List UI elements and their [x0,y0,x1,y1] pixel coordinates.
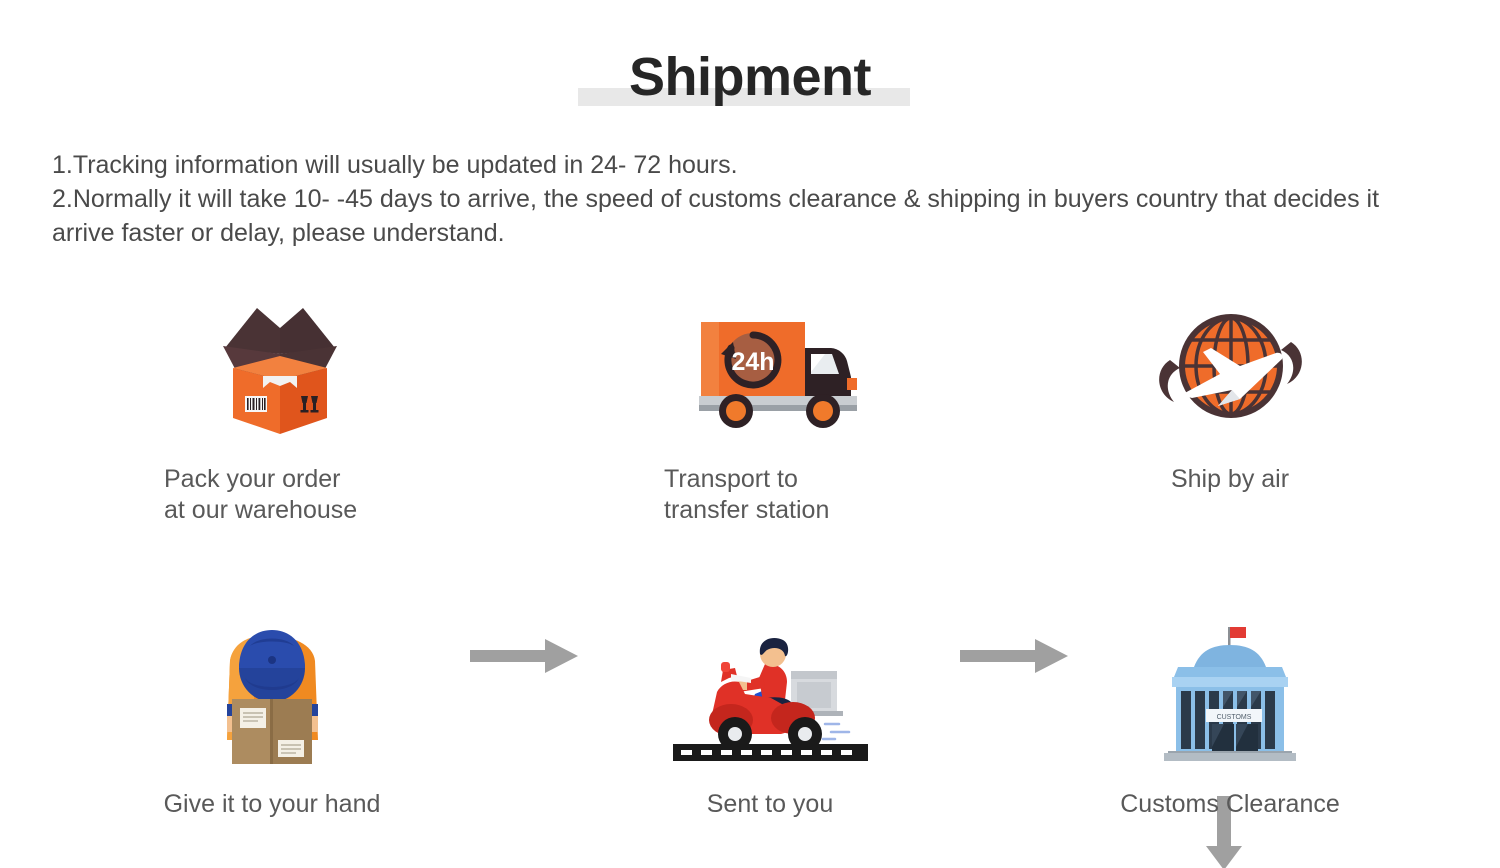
arrow-transport-to-air-icon [960,633,1070,679]
step-pack-your-order: Pack your order at our warehouse [130,288,430,526]
step-pack-caption-line2: at our warehouse [164,495,430,526]
step-transport-caption-line2: transfer station [664,495,930,526]
step-hand-caption: Give it to your hand [122,789,422,820]
step-air-caption: Ship by air [1080,464,1380,495]
customs-sign-text: CUSTOMS [1217,714,1252,721]
step-hand-caption-line1: Give it to your hand [122,789,422,820]
delivery-truck-icon: 24h [630,288,930,448]
step-transport-to-station: 24h [630,288,930,526]
shipment-infographic: Shipment 1.Tracking information will usu… [0,0,1500,868]
step-sent-caption: Sent to you [620,789,920,820]
step-customs-caption-line1: Customs Clearance [1080,789,1380,820]
open-box-icon [130,288,430,448]
step-transport-caption-line1: Transport to [664,464,930,495]
delivery-person-icon [122,613,422,773]
step-air-caption-line1: Ship by air [1080,464,1380,495]
globe-airplane-icon [1080,288,1380,448]
customs-building-icon: CUSTOMS [1080,613,1380,773]
delivery-scooter-icon [620,613,920,773]
step-customs-caption: Customs Clearance [1080,789,1380,820]
shipping-policy-text: 1.Tracking information will usually be u… [52,148,1442,250]
page-title-text: Shipment [629,48,871,107]
step-give-to-hand: Give it to your hand [122,613,422,820]
step-sent-caption-line1: Sent to you [620,789,920,820]
step-ship-by-air: Ship by air [1080,288,1380,495]
policy-line-tracking: 1.Tracking information will usually be u… [52,148,1442,182]
step-pack-caption-line1: Pack your order [164,464,430,495]
step-transport-caption: Transport to transfer station [630,464,930,526]
svg-text:24h: 24h [731,348,774,376]
policy-line-delivery-time: 2.Normally it will take 10- -45 days to … [52,182,1442,250]
step-sent-to-you: Sent to you [620,613,920,820]
arrow-pack-to-transport-icon [470,633,580,679]
page-title: Shipment [0,48,1500,107]
step-pack-caption: Pack your order at our warehouse [130,464,430,526]
step-customs-clearance: CUSTOMS Customs Clearance [1080,613,1380,820]
